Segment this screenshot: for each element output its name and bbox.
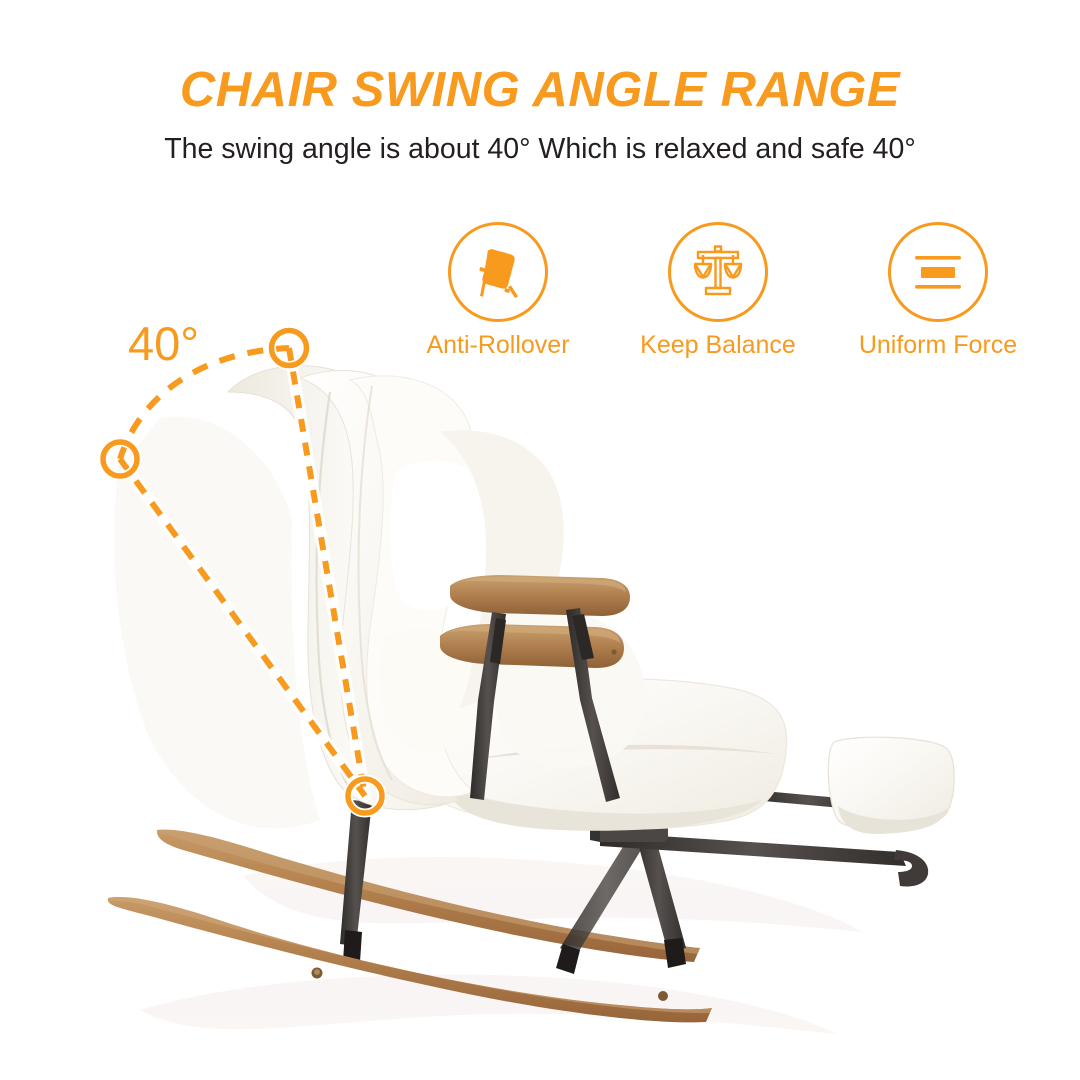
- feature-keep-balance[interactable]: Keep Balance: [618, 222, 818, 358]
- page-subtitle: The swing angle is about 40° Which is re…: [0, 133, 1080, 166]
- feature-uniform-force[interactable]: Uniform Force: [838, 222, 1038, 358]
- balance-scale-icon: [689, 243, 747, 301]
- feature-label: Anti-Rollover: [426, 333, 569, 358]
- tilted-chair-no-rollover-icon: [467, 241, 529, 303]
- keep-balance-circle: [668, 222, 768, 322]
- feature-label: Uniform Force: [859, 333, 1017, 358]
- three-bars-icon: [909, 243, 967, 301]
- anti-rollover-circle: [448, 222, 548, 322]
- footrest-ottoman: [828, 737, 954, 834]
- armrest-lower: [440, 624, 624, 668]
- infographic-page: CHAIR SWING ANGLE RANGE The swing angle …: [0, 0, 1080, 1080]
- armrest-upper: [450, 575, 630, 616]
- feature-anti-rollover[interactable]: Anti-Rollover: [398, 222, 598, 358]
- feature-label: Keep Balance: [640, 333, 796, 358]
- ghost-rocker-back: [140, 857, 862, 1034]
- feature-badge-row: Anti-Rollover: [398, 222, 1038, 377]
- angle-value-label: 40°: [128, 320, 199, 367]
- ghost-reclined-chair: [114, 416, 320, 828]
- uniform-force-circle: [888, 222, 988, 322]
- page-title: CHAIR SWING ANGLE RANGE: [0, 62, 1080, 118]
